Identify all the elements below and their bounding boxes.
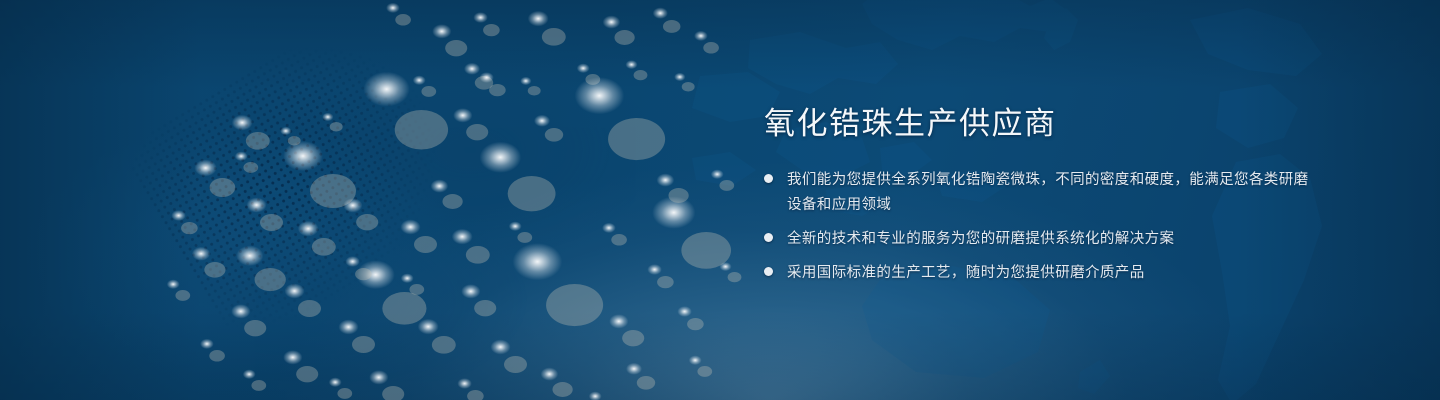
list-item: 我们能为您提供全系列氧化锆陶瓷微珠，不同的密度和硬度，能满足您各类研磨设备和应用… xyxy=(762,168,1322,218)
list-item: 全新的技术和专业的服务为您的研磨提供系统化的解决方案 xyxy=(762,227,1322,252)
banner-copy: 氧化锆珠生产供应商 我们能为您提供全系列氧化锆陶瓷微珠，不同的密度和硬度，能满足… xyxy=(762,104,1322,286)
page-title: 氧化锆珠生产供应商 xyxy=(764,104,1322,144)
bullet-dot-icon xyxy=(764,233,773,242)
list-item-label: 全新的技术和专业的服务为您的研磨提供系统化的解决方案 xyxy=(787,227,1174,252)
feature-list: 我们能为您提供全系列氧化锆陶瓷微珠，不同的密度和硬度，能满足您各类研磨设备和应用… xyxy=(762,168,1322,286)
hero-banner: 氧化锆珠生产供应商 我们能为您提供全系列氧化锆陶瓷微珠，不同的密度和硬度，能满足… xyxy=(0,0,1440,400)
bullet-dot-icon xyxy=(764,267,773,276)
zirconia-beads-image xyxy=(0,0,760,400)
list-item: 采用国际标准的生产工艺，随时为您提供研磨介质产品 xyxy=(762,261,1322,286)
list-item-label: 采用国际标准的生产工艺，随时为您提供研磨介质产品 xyxy=(787,261,1145,286)
bullet-dot-icon xyxy=(764,174,773,183)
list-item-label: 我们能为您提供全系列氧化锆陶瓷微珠，不同的密度和硬度，能满足您各类研磨设备和应用… xyxy=(787,168,1322,218)
